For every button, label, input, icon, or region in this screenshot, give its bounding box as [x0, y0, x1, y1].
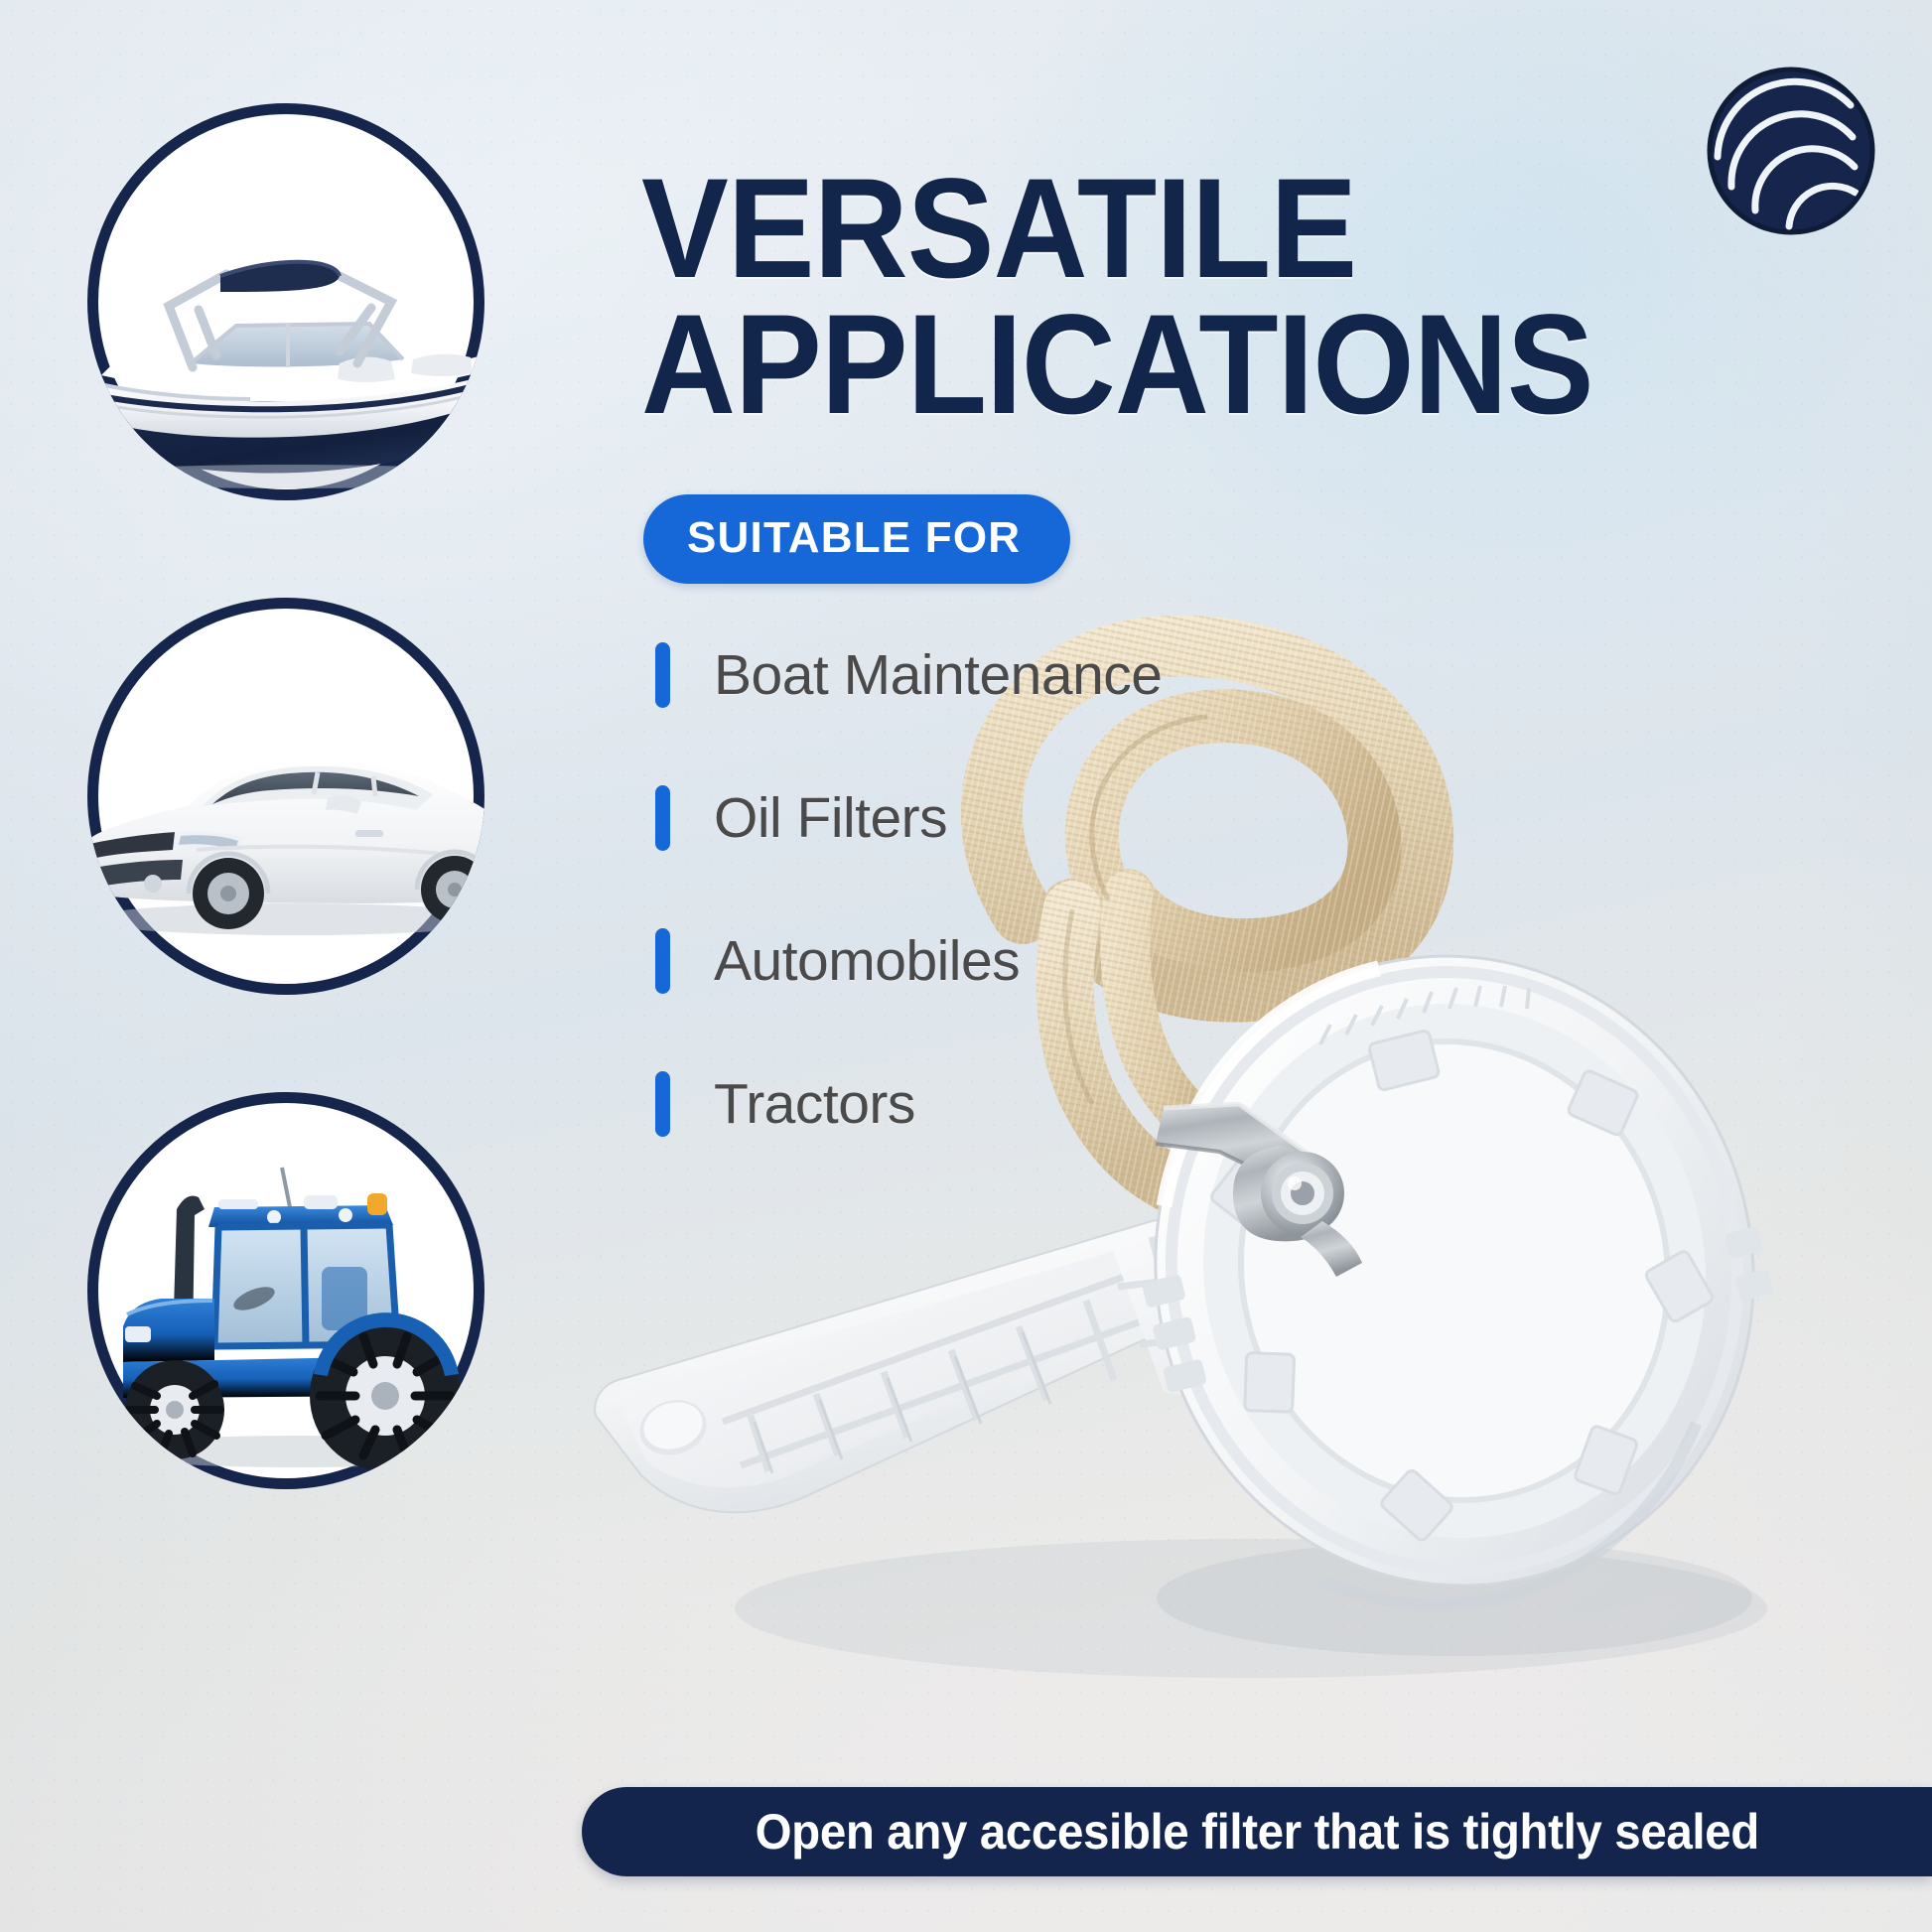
page-title: VERSATILE APPLICATIONS: [641, 161, 1593, 434]
list-item: Boat Maintenance: [655, 627, 1162, 723]
list-item-label: Tractors: [714, 1071, 915, 1137]
list-item: Oil Filters: [655, 770, 1162, 866]
thumbnail-boat-clip: [87, 103, 484, 500]
bottom-banner: Open any accesible filter that is tightl…: [582, 1787, 1932, 1876]
thumbnail-boat: [87, 103, 484, 500]
suitable-for-badge: SUITABLE FOR: [643, 494, 1070, 584]
headline-line-1: VERSATILE: [641, 161, 1593, 297]
boat-icon: [87, 252, 484, 490]
wave-shell-circle-logo-icon: [1702, 62, 1880, 240]
thumbnail-car-clip: [87, 598, 484, 995]
car-icon: [87, 715, 484, 943]
thumbnail-tractor: [87, 1092, 484, 1489]
banner-text: Open any accesible filter that is tightl…: [755, 1803, 1758, 1861]
headline-line-2: APPLICATIONS: [641, 297, 1593, 433]
thumbnail-tractor-clip: [87, 1092, 484, 1489]
thumbnail-car: [87, 598, 484, 995]
suitable-for-list: Boat Maintenance Oil Filters Automobiles…: [655, 627, 1162, 1199]
bullet-bar-icon: [655, 785, 670, 851]
list-item-label: Oil Filters: [714, 785, 947, 851]
bullet-bar-icon: [655, 1071, 670, 1137]
bullet-bar-icon: [655, 928, 670, 994]
list-item-label: Automobiles: [714, 928, 1020, 994]
list-item: Automobiles: [655, 913, 1162, 1009]
list-item-label: Boat Maintenance: [714, 642, 1162, 708]
list-item: Tractors: [655, 1056, 1162, 1152]
brand-logo: [1702, 62, 1880, 240]
tractor-icon: [87, 1150, 484, 1477]
bullet-bar-icon: [655, 642, 670, 708]
